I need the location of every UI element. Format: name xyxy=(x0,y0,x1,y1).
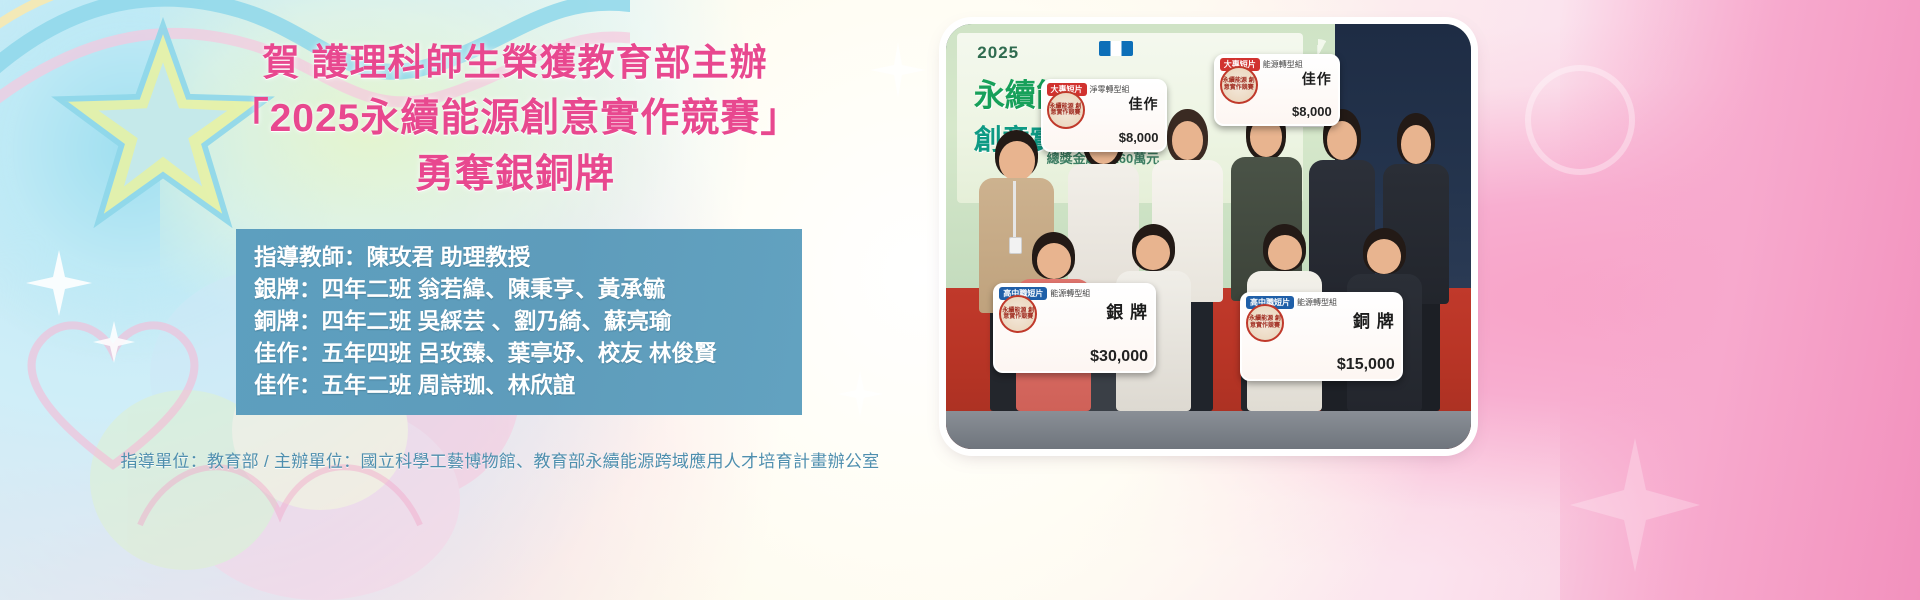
placard-bronze-award: 銅 牌 xyxy=(1353,307,1395,332)
info-line-bronze: 銅牌：四年二班 吳綵芸 、劉乃綺、蘇亮瑜 xyxy=(254,306,802,338)
sparkle-decoration xyxy=(92,320,136,364)
placard-bronze-category-text: 能源轉型組 xyxy=(1297,297,1337,308)
headline-line-1: 賀 護理科師生榮獲教育部主辦 xyxy=(150,38,880,87)
placard-silver-award: 銀 牌 xyxy=(1106,298,1148,323)
placard-bronze: 高中職短片 能源轉型組 永續能源 創意實作競賽 銅 牌 $15,000 xyxy=(1240,292,1403,381)
placard-silver-seal: 永續能源 創意實作競賽 xyxy=(999,295,1037,333)
award-details-panel: 指導教師：陳玫君 助理教授 銀牌：四年二班 翁若緯、陳秉亨、黃承毓 銅牌：四年二… xyxy=(236,229,802,415)
headline-block: 賀 護理科師生榮獲教育部主辦 「2025永續能源創意實作競賽」 勇奪銀銅牌 xyxy=(150,38,880,201)
placard-merit-1-seal: 永續能源 創意實作競賽 xyxy=(1047,91,1085,129)
placard-merit-2-award: 佳作 xyxy=(1302,69,1332,89)
placard-silver: 高中職短片 能源轉型組 永續能源 創意實作競賽 銀 牌 $30,000 xyxy=(993,283,1156,372)
placard-merit-1: 大專短片 淨零轉型組 永續能源 創意實作競賽 佳作 $8,000 xyxy=(1041,79,1167,151)
taiwan-energy-logo-icon xyxy=(1099,41,1133,56)
placard-merit-2-seal: 永續能源 創意實作競賽 xyxy=(1220,66,1258,104)
photo-content: 2025 永續能源 創意實作競賽 總獎金超過260萬元 NET ZERO xyxy=(946,24,1471,449)
placard-merit-2: 大專短片 能源轉型組 永續能源 創意實作競賽 佳作 $8,000 xyxy=(1214,54,1340,126)
footer-credit-text: 指導單位：教育部 / 主辦單位：國立科學工藝博物館、教育部永續能源跨域應用人才培… xyxy=(0,447,1000,472)
headline-line-2: 「2025永續能源創意實作競賽」 xyxy=(150,93,880,145)
sparkle-decoration xyxy=(836,370,884,418)
info-line-silver: 銀牌：四年二班 翁若緯、陳秉亨、黃承毓 xyxy=(254,274,802,306)
placard-merit-2-amount: $8,000 xyxy=(1292,104,1332,119)
placard-bronze-amount: $15,000 xyxy=(1337,356,1395,374)
placard-merit-2-category-text: 能源轉型組 xyxy=(1263,59,1303,70)
placard-silver-category-text: 能源轉型組 xyxy=(1050,288,1090,299)
placard-merit-1-category-text: 淨零轉型組 xyxy=(1090,84,1130,95)
placard-merit-1-amount: $8,000 xyxy=(1119,130,1159,145)
stage-front-carpet xyxy=(946,411,1471,449)
placard-silver-amount: $30,000 xyxy=(1090,348,1148,366)
sparkle-decoration xyxy=(24,248,94,318)
info-line-merit-2: 佳作：五年二班 周詩珈、林欣誼 xyxy=(254,370,802,402)
placard-merit-1-award: 佳作 xyxy=(1129,94,1159,114)
stage-banner-year: 2025 xyxy=(977,43,1019,63)
sparkle-decoration xyxy=(1520,60,1640,180)
placard-bronze-seal: 永續能源 創意實作競賽 xyxy=(1246,304,1284,342)
info-line-advisor: 指導教師：陳玫君 助理教授 xyxy=(254,242,802,274)
award-announcement-banner: 賀 護理科師生榮獲教育部主辦 「2025永續能源創意實作競賽」 勇奪銀銅牌 指導… xyxy=(0,0,1920,600)
sparkle-decoration xyxy=(1560,430,1710,580)
info-line-merit-1: 佳作：五年四班 呂玫臻、葉亭妤、校友 林俊賢 xyxy=(254,338,802,370)
award-ceremony-photo: 2025 永續能源 創意實作競賽 總獎金超過260萬元 NET ZERO xyxy=(946,24,1471,449)
headline-line-3: 勇奪銀銅牌 xyxy=(150,149,880,201)
